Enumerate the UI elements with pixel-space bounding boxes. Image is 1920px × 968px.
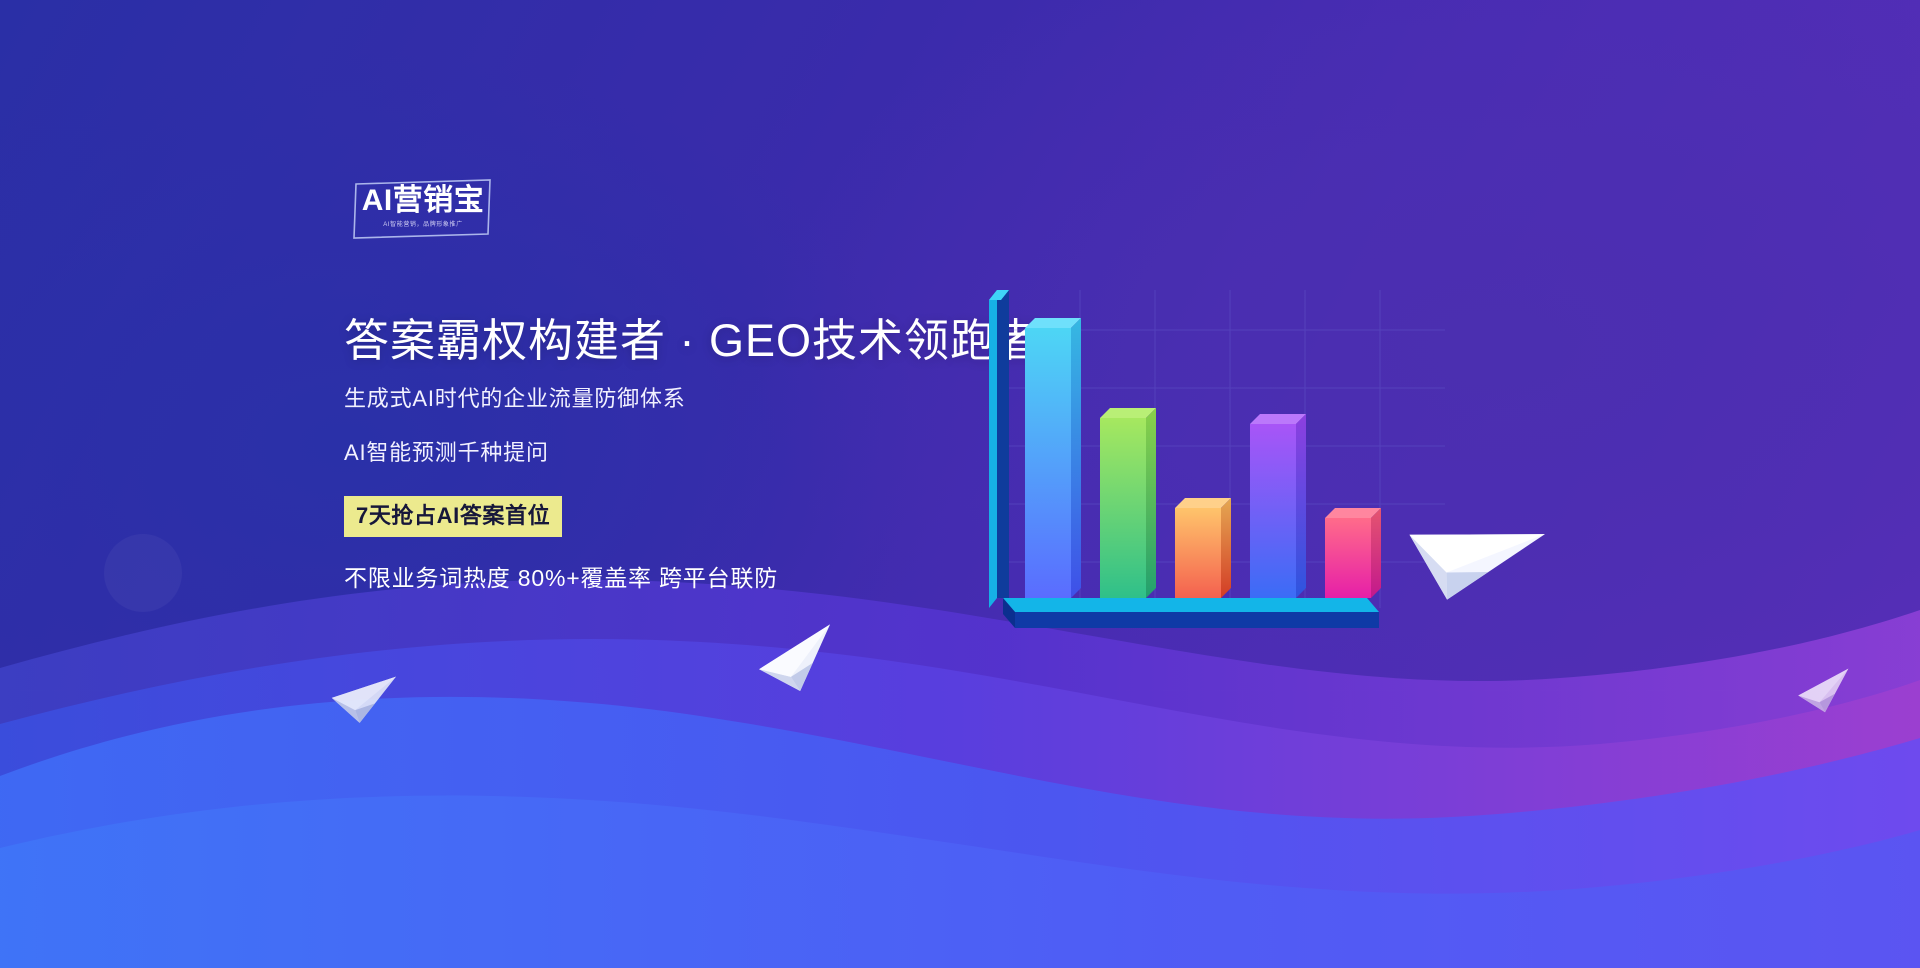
decor-circle [1688, 846, 1838, 968]
hero-subline: 生成式AI时代的企业流量防御体系 [344, 388, 1064, 410]
chart-bar [1175, 498, 1231, 598]
chart-base-platform [1003, 598, 1379, 628]
status-badge: 7天抢占AI答案首位 [344, 496, 562, 537]
chart-y-axis [989, 290, 1009, 608]
paper-plane-icon [1792, 666, 1859, 723]
logo-tagline: AI智能营销，品牌形象推广 [352, 222, 494, 228]
bar-chart-svg [975, 290, 1445, 665]
decor-circle [104, 534, 182, 612]
chart-bar [1100, 408, 1156, 598]
page-title: 答案霸权构建者 · GEO技术领跑者 [344, 316, 1064, 366]
logo-wordmark: AI营销宝 [352, 186, 494, 216]
decor-grid [0, 690, 1920, 968]
chart-bar [1250, 414, 1306, 598]
hero-feature-line: AI智能预测千种提问 [344, 442, 1064, 464]
hero-copy: 答案霸权构建者 · GEO技术领跑者 生成式AI时代的企业流量防御体系 AI智能… [344, 316, 1064, 590]
hero-metrics-line: 不限业务词热度 80%+覆盖率 跨平台联防 [344, 567, 1064, 590]
paper-plane-icon [748, 620, 850, 709]
decor-circle [300, 938, 490, 968]
chart-bar [1325, 508, 1381, 598]
decor-circle [560, 668, 630, 738]
wave-graphics [0, 548, 1920, 968]
chart-bar [1025, 318, 1081, 598]
bar-chart-illustration [975, 290, 1445, 665]
highlight-badge-wrapper: 7天抢占AI答案首位 [344, 496, 1064, 537]
brand-logo[interactable]: AI营销宝 AI智能营销，品牌形象推广 [352, 178, 494, 240]
paper-plane-icon [328, 674, 400, 731]
hero-banner: AI营销宝 AI智能营销，品牌形象推广 答案霸权构建者 · GEO技术领跑者 生… [0, 0, 1920, 968]
